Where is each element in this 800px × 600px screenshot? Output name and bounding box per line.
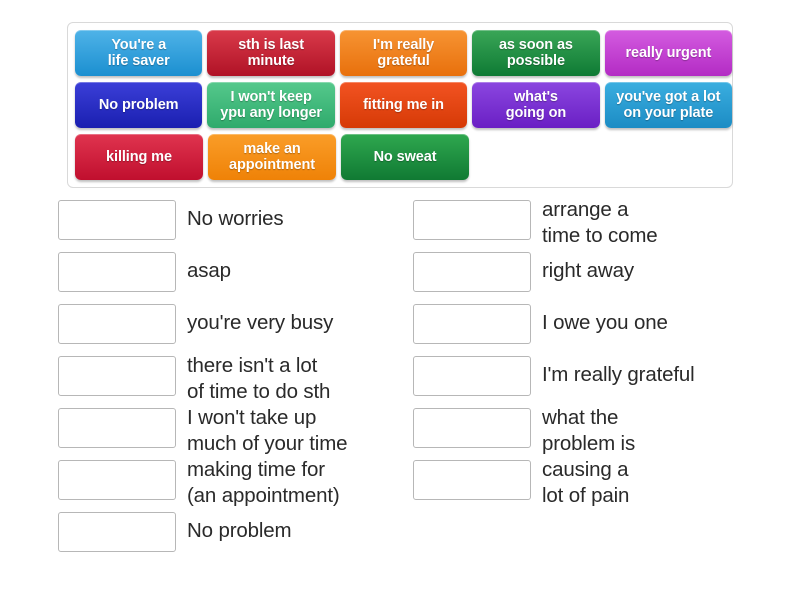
answer-label: there isn't a lot of time to do sth bbox=[187, 353, 330, 405]
draggable-tile[interactable]: I'm really grateful bbox=[340, 30, 467, 76]
draggable-tile[interactable]: You're a life saver bbox=[75, 30, 202, 76]
answer-label: arrange a time to come bbox=[542, 197, 658, 249]
tile-label: make an appointment bbox=[212, 141, 332, 173]
drop-target-box[interactable] bbox=[58, 408, 176, 448]
answer-row: I'm really grateful bbox=[413, 356, 768, 408]
tile-row: You're a life saversth is last minuteI'm… bbox=[70, 30, 732, 82]
answer-row: No problem bbox=[58, 512, 413, 564]
drop-target-box[interactable] bbox=[58, 252, 176, 292]
drop-target-box[interactable] bbox=[413, 200, 531, 240]
answer-row: right away bbox=[413, 252, 768, 304]
drop-target-box[interactable] bbox=[413, 252, 531, 292]
tile-label: really urgent bbox=[609, 45, 728, 61]
drop-target-box[interactable] bbox=[58, 512, 176, 552]
answer-label: No worries bbox=[187, 206, 283, 232]
answer-label: I'm really grateful bbox=[542, 362, 695, 388]
answer-row: No worries bbox=[58, 200, 413, 252]
answer-row: I won't take up much of your time bbox=[58, 408, 413, 460]
draggable-tile[interactable]: what's going on bbox=[472, 82, 599, 128]
tile-label: you've got a lot on your plate bbox=[609, 89, 728, 121]
tile-label: No problem bbox=[79, 97, 198, 113]
answer-label: causing a lot of pain bbox=[542, 457, 629, 509]
draggable-tile[interactable]: as soon as possible bbox=[472, 30, 599, 76]
tile-label: fitting me in bbox=[344, 97, 463, 113]
answer-label: right away bbox=[542, 258, 634, 284]
draggable-tile[interactable]: fitting me in bbox=[340, 82, 467, 128]
drop-target-box[interactable] bbox=[58, 304, 176, 344]
draggable-tile[interactable]: No sweat bbox=[341, 134, 469, 180]
draggable-tile[interactable]: killing me bbox=[75, 134, 203, 180]
tile-label: I'm really grateful bbox=[344, 37, 463, 69]
draggable-tile[interactable]: I won't keep ypu any longer bbox=[207, 82, 334, 128]
tile-label: sth is last minute bbox=[211, 37, 330, 69]
answers-right-column: arrange a time to comeright awayI owe yo… bbox=[413, 200, 768, 512]
drop-target-box[interactable] bbox=[58, 356, 176, 396]
drop-target-box[interactable] bbox=[413, 460, 531, 500]
answer-row: making time for (an appointment) bbox=[58, 460, 413, 512]
answer-label: you're very busy bbox=[187, 310, 333, 336]
answers-left-column: No worriesasapyou're very busythere isn'… bbox=[58, 200, 413, 564]
answer-row: what the problem is bbox=[413, 408, 768, 460]
draggable-tile[interactable]: No problem bbox=[75, 82, 202, 128]
tile-row: killing memake an appointmentNo sweat bbox=[70, 134, 732, 186]
answer-label: what the problem is bbox=[542, 405, 635, 457]
answer-row: you're very busy bbox=[58, 304, 413, 356]
answer-row: asap bbox=[58, 252, 413, 304]
tile-label: as soon as possible bbox=[476, 37, 595, 69]
drop-target-box[interactable] bbox=[413, 356, 531, 396]
answer-row: there isn't a lot of time to do sth bbox=[58, 356, 413, 408]
drop-target-box[interactable] bbox=[58, 200, 176, 240]
answer-label: I owe you one bbox=[542, 310, 668, 336]
draggable-tile[interactable]: sth is last minute bbox=[207, 30, 334, 76]
draggable-tile[interactable]: make an appointment bbox=[208, 134, 336, 180]
answer-row: arrange a time to come bbox=[413, 200, 768, 252]
answer-label: I won't take up much of your time bbox=[187, 405, 347, 457]
tile-label: No sweat bbox=[345, 149, 465, 165]
tile-row: No problemI won't keep ypu any longerfit… bbox=[70, 82, 732, 134]
answer-row: causing a lot of pain bbox=[413, 460, 768, 512]
tile-label: what's going on bbox=[476, 89, 595, 121]
draggable-tile[interactable]: you've got a lot on your plate bbox=[605, 82, 732, 128]
tile-label: killing me bbox=[79, 149, 199, 165]
answer-label: No problem bbox=[187, 518, 291, 544]
tile-label: You're a life saver bbox=[79, 37, 198, 69]
tile-label: I won't keep ypu any longer bbox=[211, 89, 330, 121]
draggable-tile[interactable]: really urgent bbox=[605, 30, 732, 76]
answer-label: asap bbox=[187, 258, 231, 284]
answer-label: making time for (an appointment) bbox=[187, 457, 340, 509]
drop-target-box[interactable] bbox=[58, 460, 176, 500]
drop-target-box[interactable] bbox=[413, 304, 531, 344]
tile-bank: You're a life saversth is last minuteI'm… bbox=[67, 22, 733, 188]
answer-row: I owe you one bbox=[413, 304, 768, 356]
drop-target-box[interactable] bbox=[413, 408, 531, 448]
